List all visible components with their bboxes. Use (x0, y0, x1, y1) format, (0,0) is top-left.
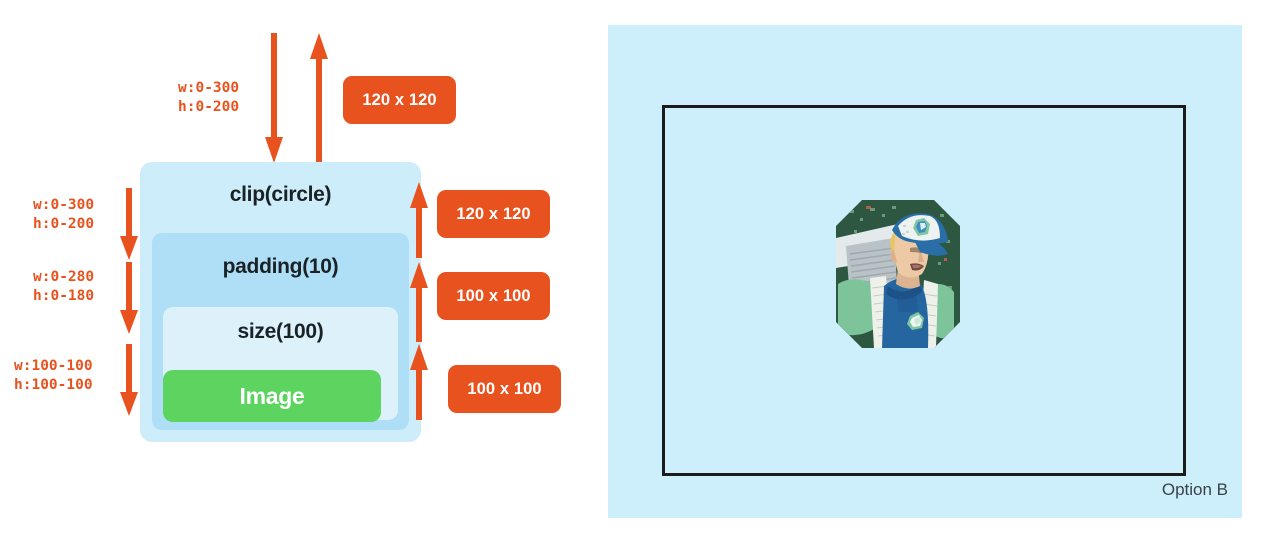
constraint-size-in-width: w:100-100 (14, 358, 93, 374)
size-badge-size: 100 x 100 (448, 365, 561, 413)
layer-label-padding: padding(10) (152, 255, 409, 279)
constraint-top-width: w:0-300 (178, 80, 239, 96)
arrow-down-padding (120, 262, 138, 334)
constraint-clip-in-width: w:0-300 (33, 197, 94, 213)
arrow-up-size (410, 344, 428, 420)
constraint-size-in-height: h:100-100 (14, 377, 93, 393)
arrow-down-clip (120, 188, 138, 260)
constraint-padding-in: w:0-280 h:0-180 (33, 268, 94, 306)
constraint-padding-in-width: w:0-280 (33, 269, 94, 285)
constraint-clip-in-height: h:0-200 (33, 216, 94, 232)
constraint-top: w:0-300 h:0-200 (178, 79, 239, 117)
option-label: Option B (1162, 480, 1228, 500)
layer-label-size: size(100) (163, 320, 398, 344)
arrow-down-top (265, 33, 283, 163)
layer-label-clip: clip(circle) (140, 183, 421, 207)
arrow-up-top (310, 33, 328, 163)
arrow-down-size (120, 344, 138, 416)
constraint-size-in: w:100-100 h:100-100 (14, 357, 93, 395)
layer-label-image: Image (163, 383, 381, 410)
arrow-up-clip (410, 182, 428, 258)
size-badge-clip: 120 x 120 (437, 190, 550, 238)
arrow-up-padding (410, 262, 428, 342)
size-badge-top: 120 x 120 (343, 76, 456, 124)
constraint-clip-in: w:0-300 h:0-200 (33, 196, 94, 234)
constraint-top-height: h:0-200 (178, 99, 239, 115)
size-badge-padding: 100 x 100 (437, 272, 550, 320)
cartoon-character-avatar (836, 200, 960, 348)
constraint-padding-in-height: h:0-180 (33, 288, 94, 304)
diagram-canvas: w:0-300 h:0-200 clip(circle) padding(10)… (0, 0, 1272, 534)
